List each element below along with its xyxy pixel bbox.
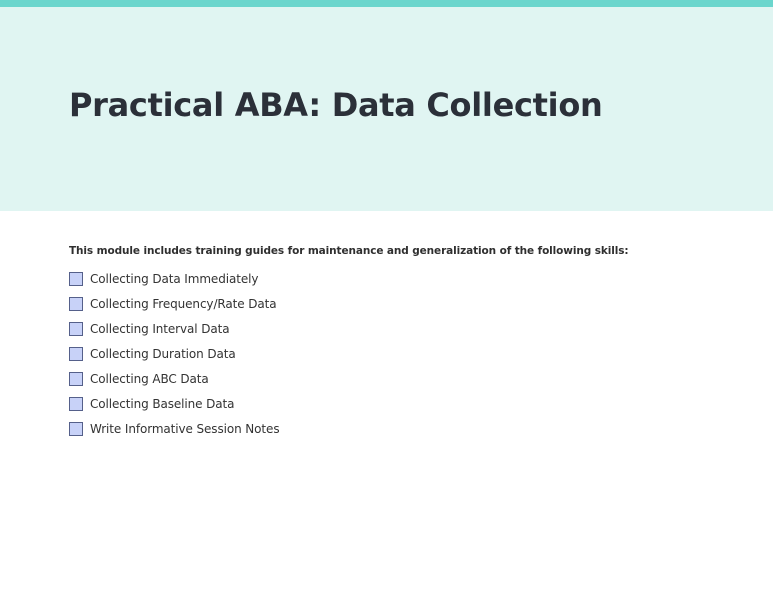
page-root: Practical ABA: Data Collection This modu… bbox=[0, 0, 773, 597]
hero-banner: Practical ABA: Data Collection bbox=[0, 7, 773, 211]
intro-text: This module includes training guides for… bbox=[69, 245, 629, 257]
list-item[interactable]: Collecting Frequency/Rate Data bbox=[69, 291, 279, 316]
checkbox-icon[interactable] bbox=[69, 297, 83, 311]
list-item[interactable]: Collecting ABC Data bbox=[69, 366, 279, 391]
checkbox-icon[interactable] bbox=[69, 272, 83, 286]
list-item[interactable]: Collecting Data Immediately bbox=[69, 266, 279, 291]
list-item-label: Collecting Data Immediately bbox=[90, 273, 258, 285]
list-item[interactable]: Write Informative Session Notes bbox=[69, 416, 279, 441]
list-item-label: Collecting ABC Data bbox=[90, 373, 209, 385]
list-item[interactable]: Collecting Duration Data bbox=[69, 341, 279, 366]
checkbox-icon[interactable] bbox=[69, 322, 83, 336]
top-accent-bar bbox=[0, 0, 773, 7]
list-item-label: Write Informative Session Notes bbox=[90, 423, 279, 435]
checkbox-icon[interactable] bbox=[69, 372, 83, 386]
list-item[interactable]: Collecting Baseline Data bbox=[69, 391, 279, 416]
skill-checklist: Collecting Data Immediately Collecting F… bbox=[69, 266, 279, 441]
list-item-label: Collecting Duration Data bbox=[90, 348, 236, 360]
list-item[interactable]: Collecting Interval Data bbox=[69, 316, 279, 341]
list-item-label: Collecting Baseline Data bbox=[90, 398, 234, 410]
list-item-label: Collecting Interval Data bbox=[90, 323, 229, 335]
page-title: Practical ABA: Data Collection bbox=[69, 85, 603, 127]
checkbox-icon[interactable] bbox=[69, 347, 83, 361]
list-item-label: Collecting Frequency/Rate Data bbox=[90, 298, 276, 310]
content-area: This module includes training guides for… bbox=[0, 211, 773, 597]
checkbox-icon[interactable] bbox=[69, 422, 83, 436]
checkbox-icon[interactable] bbox=[69, 397, 83, 411]
